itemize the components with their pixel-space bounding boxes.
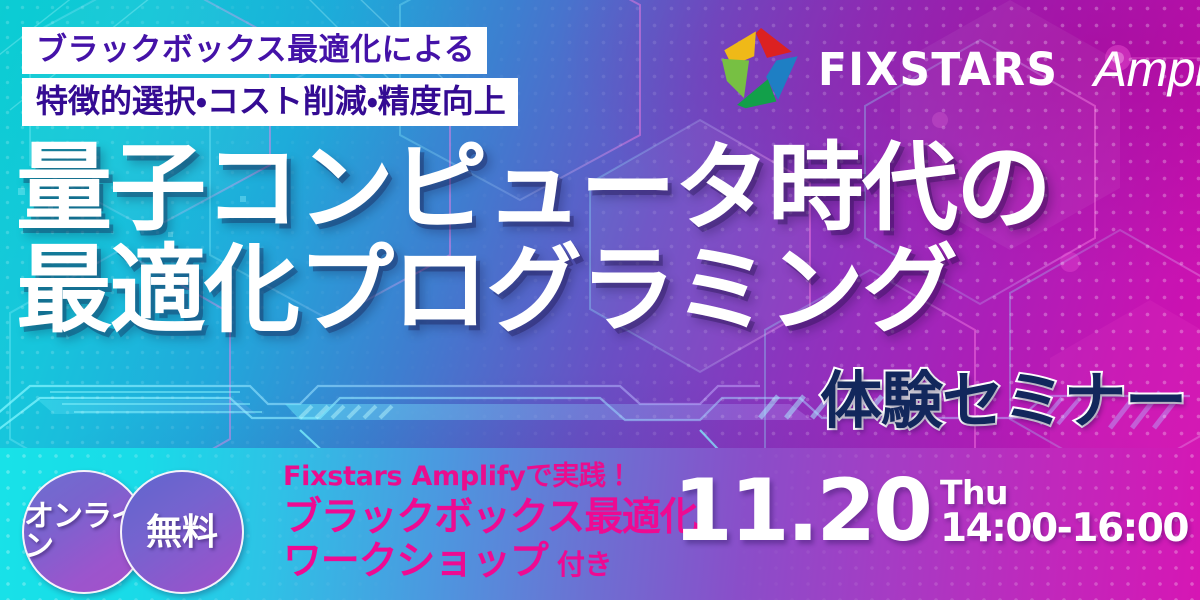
promo-text-block: Fixstars Amplifyで実践！ ブラックボックス最適化 ワークショップ…	[283, 463, 698, 581]
title-line-1: 量子コンピュータ時代の	[16, 140, 1186, 236]
fixstars-star-icon	[718, 28, 804, 110]
title-subtitle: 体験セミナー	[820, 370, 1186, 432]
tagline-line-2: 特徴的選択・コスト削減・精度向上	[22, 78, 518, 126]
seminar-banner: ブラックボックス最適化による 特徴的選択・コスト削減・精度向上 FIXSTARS…	[0, 0, 1200, 600]
fixstars-amplify-logo: FIXSTARS Amplify	[718, 26, 1188, 112]
event-time: 14:00-16:00	[940, 509, 1188, 550]
event-weekday: Thu	[940, 476, 1188, 509]
promo-suffix: 付き	[548, 548, 612, 581]
promo-line-2: ワークショップ 付き	[283, 542, 698, 581]
promo-line-1: ブラックボックス最適化	[283, 498, 698, 537]
main-title: 量子コンピュータ時代の 最適化プログラミング	[16, 140, 1186, 338]
event-date-block: 11.20 Thu 14:00-16:00	[673, 470, 1188, 553]
badge-free-label: 無料	[146, 514, 218, 550]
event-date-details: Thu 14:00-16:00	[940, 476, 1188, 550]
promo-line-2-text: ワークショップ	[283, 539, 548, 584]
tagline-group: ブラックボックス最適化による 特徴的選択・コスト削減・精度向上	[22, 27, 518, 126]
badge-group: オンライン 無料	[22, 470, 244, 594]
badge-free: 無料	[120, 470, 244, 594]
tagline-line-1: ブラックボックス最適化による	[22, 27, 487, 74]
amplify-wordmark: Amplify	[1094, 44, 1200, 94]
fixstars-wordmark: FIXSTARS	[818, 47, 1058, 92]
promo-lead: Fixstars Amplifyで実践！	[283, 463, 698, 490]
event-date: 11.20	[673, 470, 930, 553]
title-line-2: 最適化プログラミング	[16, 242, 1186, 338]
